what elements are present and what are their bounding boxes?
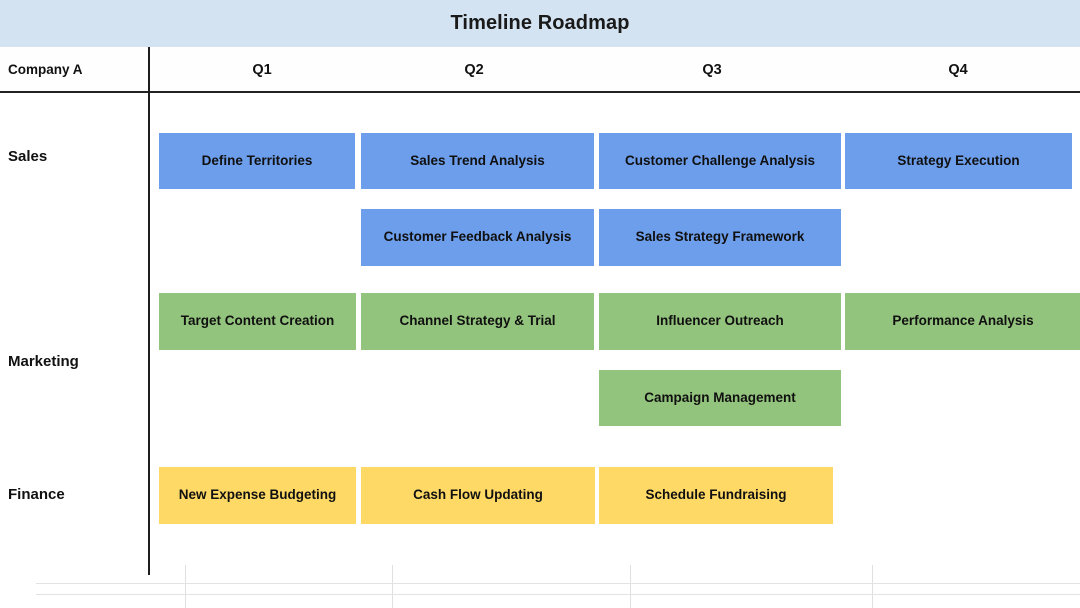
task-bar[interactable]: New Expense Budgeting [159, 467, 356, 524]
axis-divider [148, 47, 150, 575]
task-bar-label: Customer Feedback Analysis [384, 230, 572, 245]
task-bar[interactable]: Cash Flow Updating [361, 467, 595, 524]
grid-vline-1 [392, 565, 393, 608]
header-underline [0, 91, 1080, 93]
page-title: Timeline Roadmap [450, 12, 629, 35]
quarter-header-q3[interactable]: Q3 [672, 47, 752, 92]
task-bar[interactable]: Campaign Management [599, 370, 841, 426]
quarter-header-q4[interactable]: Q4 [918, 47, 998, 92]
task-bar-label: Target Content Creation [181, 314, 335, 329]
task-bar-label: Strategy Execution [897, 154, 1019, 169]
quarter-header-q2[interactable]: Q2 [434, 47, 514, 92]
company-label: Company A [8, 47, 83, 92]
task-bar[interactable]: Sales Strategy Framework [599, 209, 841, 266]
task-bar-label: Sales Strategy Framework [636, 230, 805, 245]
grid-vline-2 [630, 565, 631, 608]
task-bar-label: Performance Analysis [892, 314, 1033, 329]
lane-label-sales[interactable]: Sales [8, 148, 47, 165]
grid-vline-3 [872, 565, 873, 608]
task-bar[interactable]: Performance Analysis [845, 293, 1080, 350]
task-bar[interactable]: Influencer Outreach [599, 293, 841, 350]
timeline-roadmap-chart: Timeline Roadmap Company A Q1Q2Q3Q4 Sale… [0, 0, 1080, 608]
task-bar[interactable]: Sales Trend Analysis [361, 133, 594, 189]
lane-label-marketing[interactable]: Marketing [8, 353, 79, 370]
quarter-header-q1[interactable]: Q1 [222, 47, 302, 92]
task-bar-label: Schedule Fundraising [645, 488, 786, 503]
task-bar-label: Customer Challenge Analysis [625, 154, 815, 169]
timeline-header-row: Company A Q1Q2Q3Q4 [0, 47, 1080, 92]
task-bar-label: Cash Flow Updating [413, 488, 543, 503]
task-bar-label: New Expense Budgeting [179, 488, 337, 503]
task-bar[interactable]: Schedule Fundraising [599, 467, 833, 524]
task-bar-label: Channel Strategy & Trial [399, 314, 555, 329]
task-bar-label: Campaign Management [644, 391, 796, 406]
chart-title-banner: Timeline Roadmap [0, 0, 1080, 47]
task-bar-label: Sales Trend Analysis [410, 154, 545, 169]
grid-hline-0 [36, 583, 1080, 584]
task-bar-label: Define Territories [202, 154, 313, 169]
task-bar[interactable]: Target Content Creation [159, 293, 356, 350]
lane-label-finance[interactable]: Finance [8, 486, 65, 503]
task-bar[interactable]: Strategy Execution [845, 133, 1072, 189]
task-bar[interactable]: Customer Challenge Analysis [599, 133, 841, 189]
task-bar[interactable]: Customer Feedback Analysis [361, 209, 594, 266]
task-bar[interactable]: Define Territories [159, 133, 355, 189]
grid-vline-0 [185, 565, 186, 608]
grid-hline-1 [36, 594, 1080, 595]
task-bar[interactable]: Channel Strategy & Trial [361, 293, 594, 350]
task-bar-label: Influencer Outreach [656, 314, 784, 329]
